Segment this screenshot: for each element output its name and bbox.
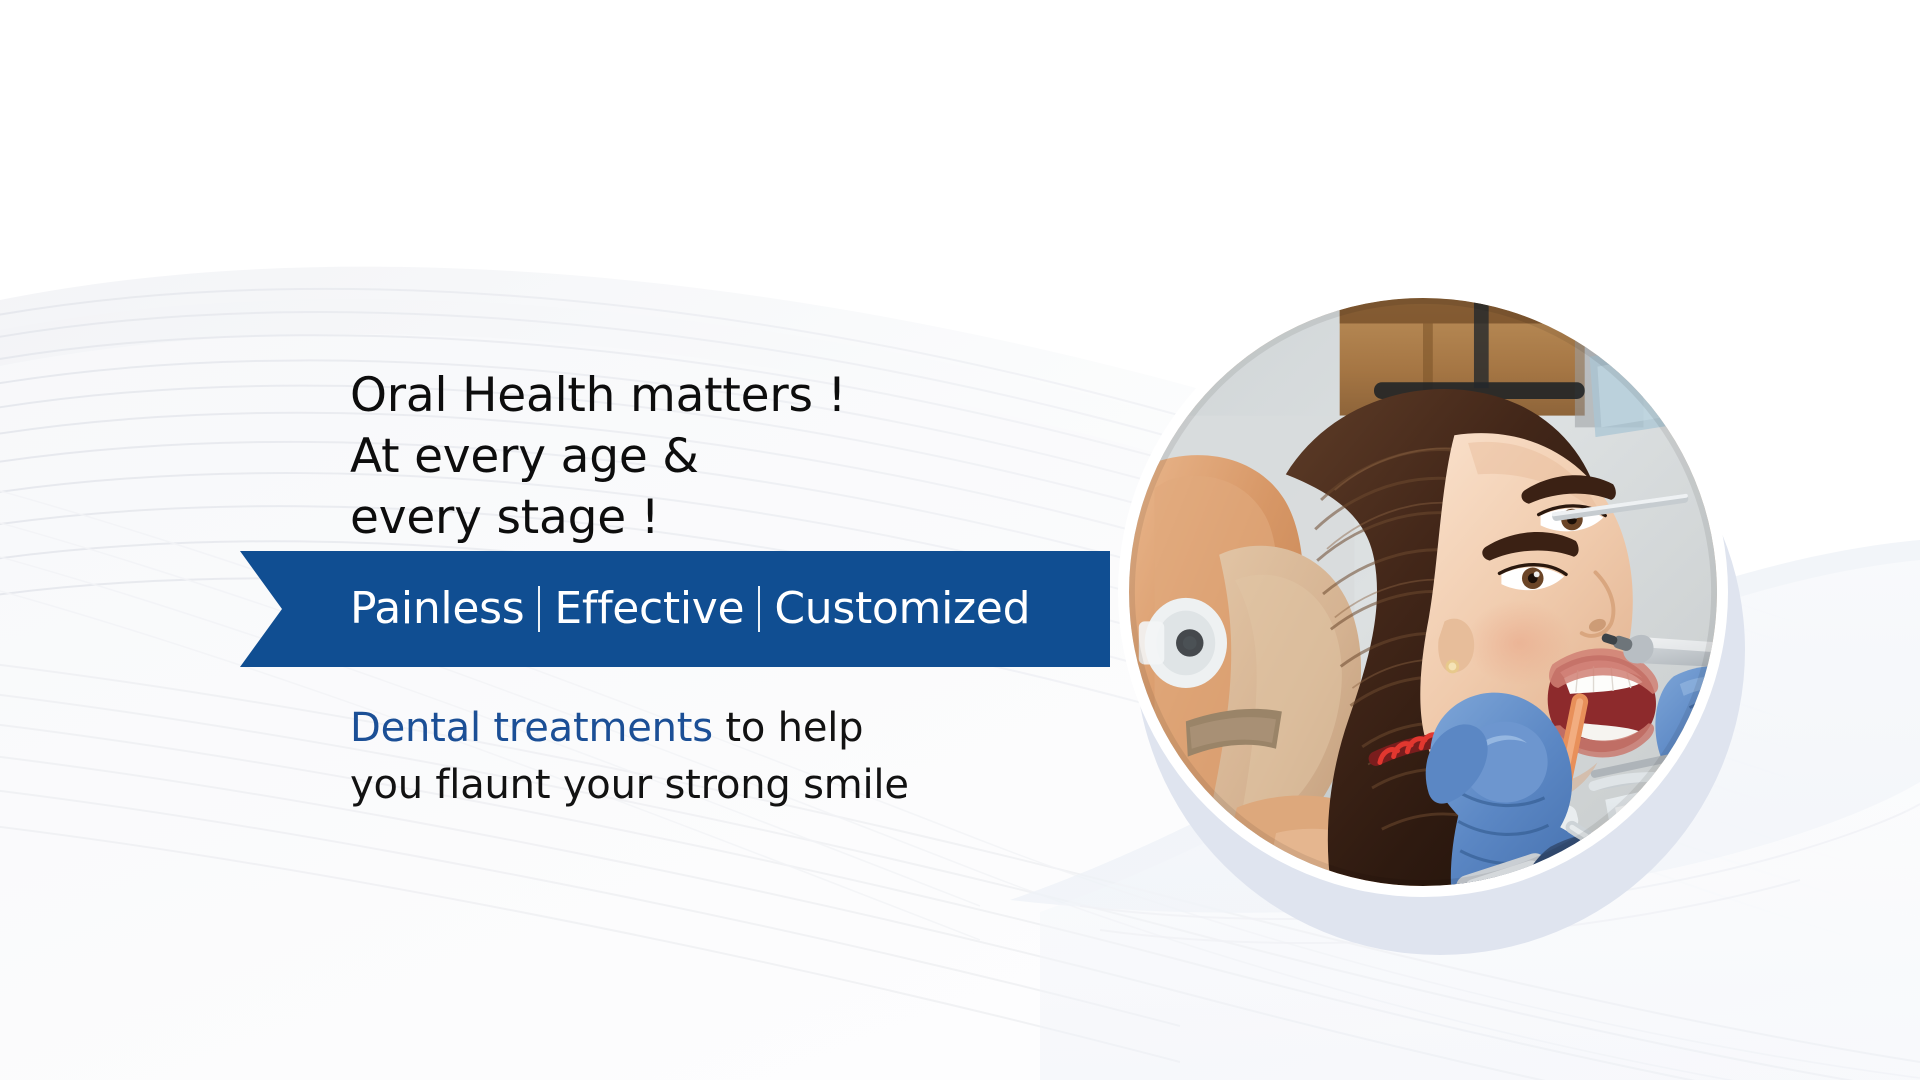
ribbon-separator-1: [538, 586, 540, 632]
feature-customized: Customized: [774, 587, 1030, 631]
photo-circle-ring: [1129, 298, 1717, 886]
feature-effective: Effective: [554, 587, 744, 631]
headline-line-1: Oral Health matters !: [350, 365, 1050, 426]
dental-patient-photo: [1118, 287, 1728, 897]
subline-line-1: Dental treatments to help: [350, 700, 1110, 757]
headline-line-3: every stage !: [350, 487, 1050, 548]
subline: Dental treatments to help you flaunt you…: [350, 700, 1110, 814]
ribbon-separator-2: [758, 586, 760, 632]
features-ribbon: Painless Effective Customized: [240, 551, 1110, 667]
headline: Oral Health matters ! At every age & eve…: [350, 365, 1050, 548]
subline-line-1-rest: to help: [713, 705, 863, 751]
subline-line-2: you flaunt your strong smile: [350, 757, 1110, 814]
banner-text-block: Oral Health matters ! At every age & eve…: [0, 0, 1140, 1080]
features-ribbon-content: Painless Effective Customized: [350, 551, 1030, 667]
headline-line-2: At every age &: [350, 426, 1050, 487]
dental-treatment-illustration: [1129, 298, 1717, 886]
subline-accent-text: Dental treatments: [350, 705, 713, 751]
dental-hero-banner: Oral Health matters ! At every age & eve…: [0, 0, 1920, 1080]
feature-painless: Painless: [350, 587, 524, 631]
